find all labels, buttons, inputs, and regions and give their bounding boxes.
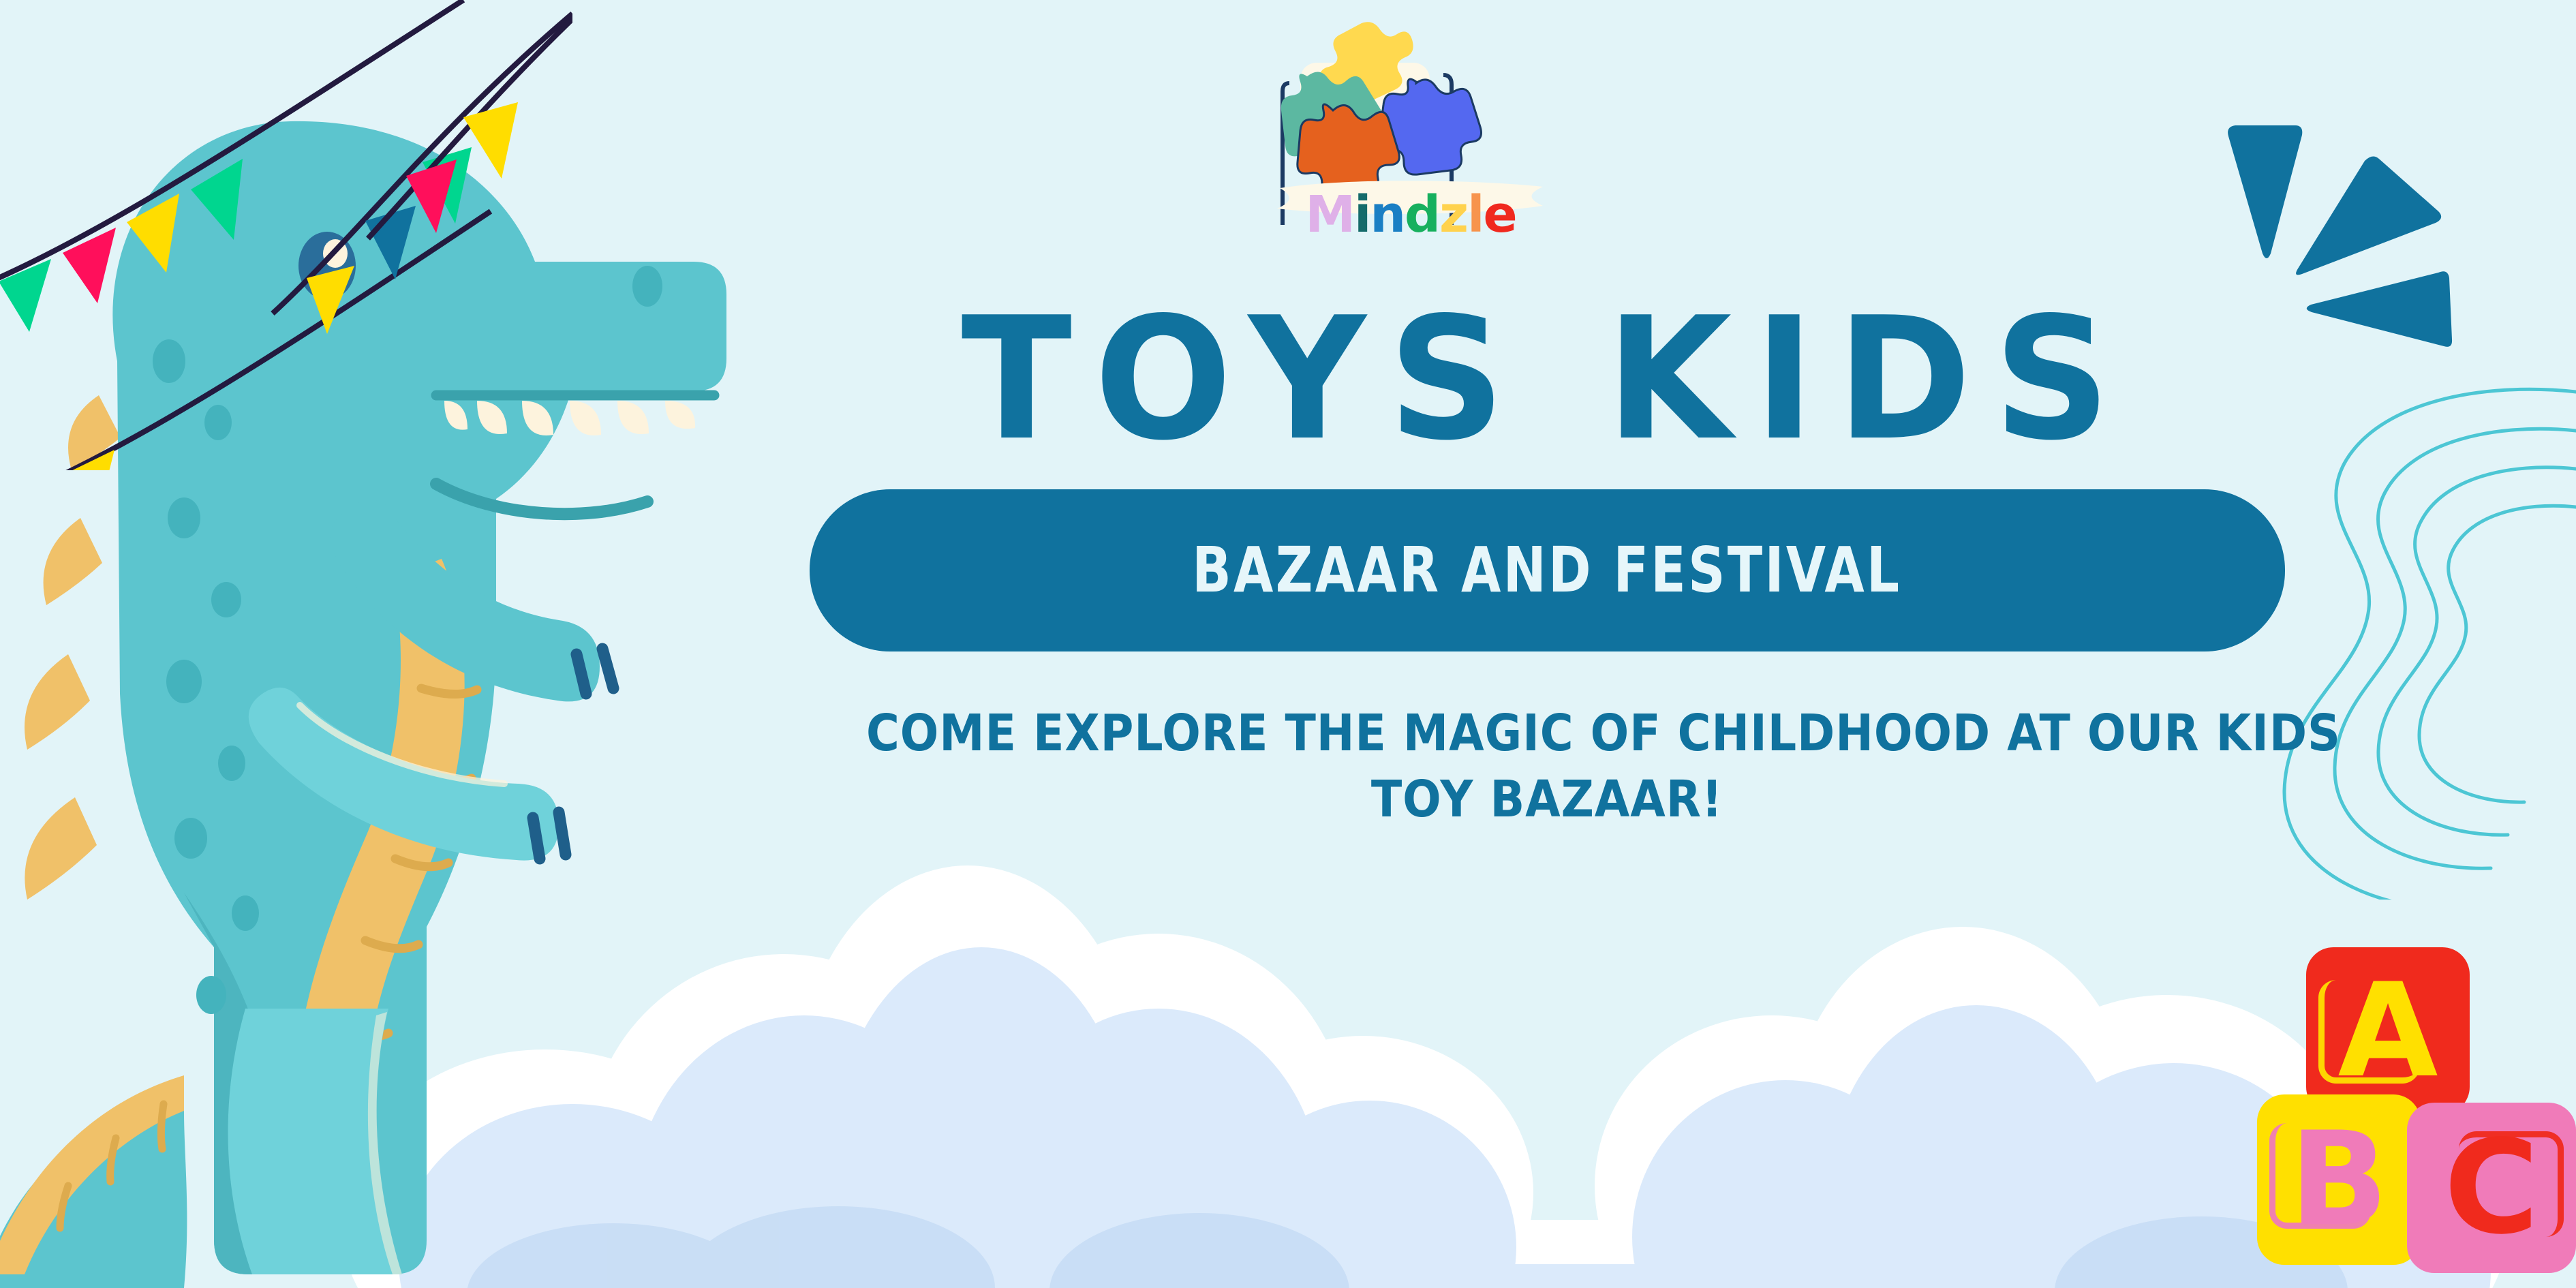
banner-canvas: Mindzle TOYS KIDS BAZAAR AND FESTIVAL CO… [0, 0, 2576, 1288]
block-a: A [2306, 947, 2470, 1114]
logo-letter: i [1354, 189, 1370, 240]
logo-letter: n [1370, 189, 1405, 240]
block-c: C [2407, 1103, 2576, 1273]
logo-wordmark: Mindzle [1274, 189, 1547, 240]
bunting-flags-decoration [0, 0, 572, 470]
logo-letter: z [1439, 189, 1467, 240]
tagline-line-1: COME EXPLORE THE MAGIC OF CHILDHOOD AT O… [866, 701, 2228, 767]
mindzle-logo[interactable]: Mindzle [1274, 20, 1547, 266]
block-b-letter: B [2290, 1115, 2389, 1244]
block-a-letter: A [2337, 966, 2438, 1096]
logo-letter: l [1467, 189, 1483, 240]
logo-letter: d [1405, 189, 1439, 240]
logo-letter: M [1305, 189, 1354, 240]
page-title: TOYS KIDS [821, 300, 2273, 461]
tagline-line-2: TOY BAZAAR! [866, 767, 2228, 833]
block-c-letter: C [2444, 1123, 2539, 1253]
block-b: B [2257, 1094, 2421, 1265]
headline-block: TOYS KIDS BAZAAR AND FESTIVAL COME EXPLO… [791, 300, 2303, 833]
abc-blocks-decoration: A B C [2222, 947, 2576, 1288]
tagline: COME EXPLORE THE MAGIC OF CHILDHOOD AT O… [866, 701, 2228, 833]
pill-label: BAZAAR AND FESTIVAL [1192, 534, 1901, 607]
subtitle-pill: BAZAAR AND FESTIVAL [810, 489, 2285, 651]
logo-letter: e [1483, 189, 1516, 240]
